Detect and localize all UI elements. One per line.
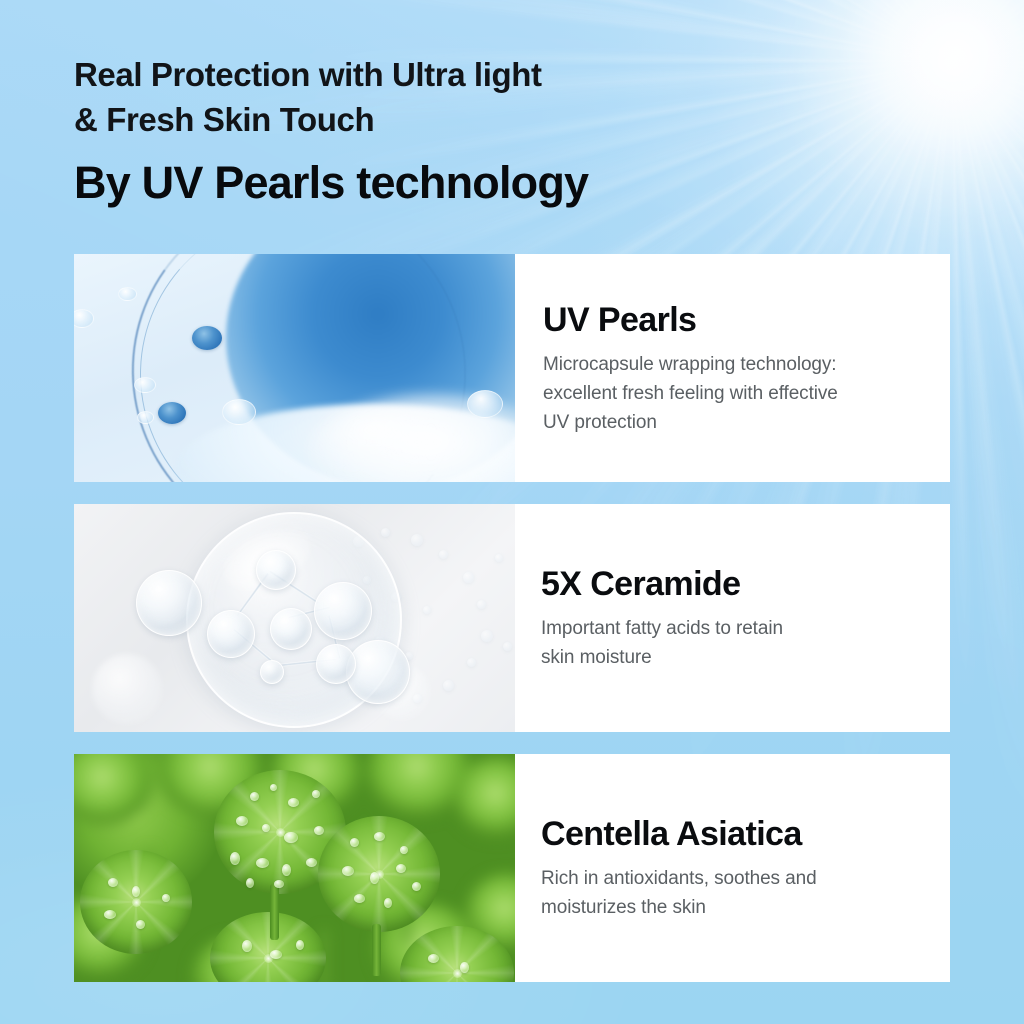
satellite-bubble-shape — [136, 570, 202, 636]
headline-subline: Real Protection with Ultra light & Fresh… — [74, 52, 854, 142]
centella-leaf — [80, 850, 192, 954]
water-droplet — [262, 824, 270, 832]
clear-droplet-icon — [74, 309, 94, 328]
water-droplet — [256, 858, 269, 868]
water-droplet — [270, 784, 277, 791]
molecule-atom — [314, 582, 372, 640]
water-droplet — [108, 878, 118, 887]
clear-droplet-icon — [222, 399, 256, 425]
molecule-atom — [256, 550, 296, 590]
headline-block: Real Protection with Ultra light & Fresh… — [74, 52, 854, 210]
water-droplet — [288, 798, 299, 807]
molecule-atom — [207, 610, 255, 658]
water-droplet — [270, 950, 282, 959]
water-droplet — [312, 790, 320, 798]
water-droplet — [412, 882, 421, 891]
clear-droplet-icon — [134, 377, 156, 393]
leaf-stem — [372, 924, 381, 976]
leaf-stem — [270, 884, 279, 940]
card-description: Important fatty acids to retain skin moi… — [541, 614, 924, 672]
water-droplet — [236, 816, 248, 826]
water-droplet — [284, 832, 298, 843]
feature-card-uv-pearls: UV Pearls Microcapsule wrapping technolo… — [74, 254, 950, 482]
water-droplet — [246, 878, 254, 888]
molecule-atom — [270, 608, 312, 650]
water-droplet — [384, 898, 392, 908]
water-droplet — [428, 954, 439, 963]
card-title: 5X Ceramide — [541, 564, 924, 604]
ceramide-text: 5X Ceramide Important fatty acids to ret… — [515, 504, 950, 732]
water-droplet — [242, 940, 252, 952]
water-droplet — [230, 852, 240, 865]
water-droplet — [400, 846, 408, 854]
water-droplet — [370, 872, 379, 884]
water-droplet — [354, 894, 365, 903]
molecule-atom — [316, 644, 356, 684]
water-droplet — [282, 864, 291, 876]
molecule-atom — [260, 660, 284, 684]
card-description: Microcapsule wrapping technology: excell… — [543, 350, 924, 437]
water-droplet — [342, 866, 354, 876]
water-droplet — [250, 792, 259, 801]
water-droplet — [306, 858, 317, 867]
water-droplet — [374, 832, 385, 841]
clear-droplet-icon — [467, 390, 503, 418]
product-feature-poster: Real Protection with Ultra light & Fresh… — [0, 0, 1024, 1024]
water-droplet — [296, 940, 304, 950]
feature-card-centella: Centella Asiatica Rich in antioxidants, … — [74, 754, 950, 982]
uv-pearls-text: UV Pearls Microcapsule wrapping technolo… — [515, 254, 950, 482]
card-title: UV Pearls — [543, 300, 924, 340]
water-droplet — [396, 864, 406, 873]
water-droplet — [460, 962, 469, 973]
water-droplet — [104, 910, 116, 919]
satellite-bubble-shape — [346, 640, 410, 704]
water-droplet — [136, 920, 145, 929]
feature-card-ceramide: 5X Ceramide Important fatty acids to ret… — [74, 504, 950, 732]
clear-droplet-icon — [137, 411, 154, 424]
soft-glow — [92, 654, 162, 724]
headline-main: By UV Pearls technology — [74, 156, 854, 210]
uv-pearls-image — [74, 254, 515, 482]
centella-text: Centella Asiatica Rich in antioxidants, … — [515, 754, 950, 982]
water-droplet — [314, 826, 324, 835]
water-droplet — [350, 838, 359, 847]
card-title: Centella Asiatica — [541, 814, 924, 854]
feature-card-list: UV Pearls Microcapsule wrapping technolo… — [74, 254, 950, 982]
water-droplet — [162, 894, 170, 902]
centella-image — [74, 754, 515, 982]
ceramide-image — [74, 504, 515, 732]
water-droplet — [274, 880, 284, 888]
blue-droplet-icon — [158, 402, 186, 424]
water-droplet — [132, 886, 140, 897]
blue-droplet-icon — [192, 326, 222, 350]
clear-droplet-icon — [118, 287, 137, 301]
card-description: Rich in antioxidants, soothes and moistu… — [541, 864, 924, 922]
